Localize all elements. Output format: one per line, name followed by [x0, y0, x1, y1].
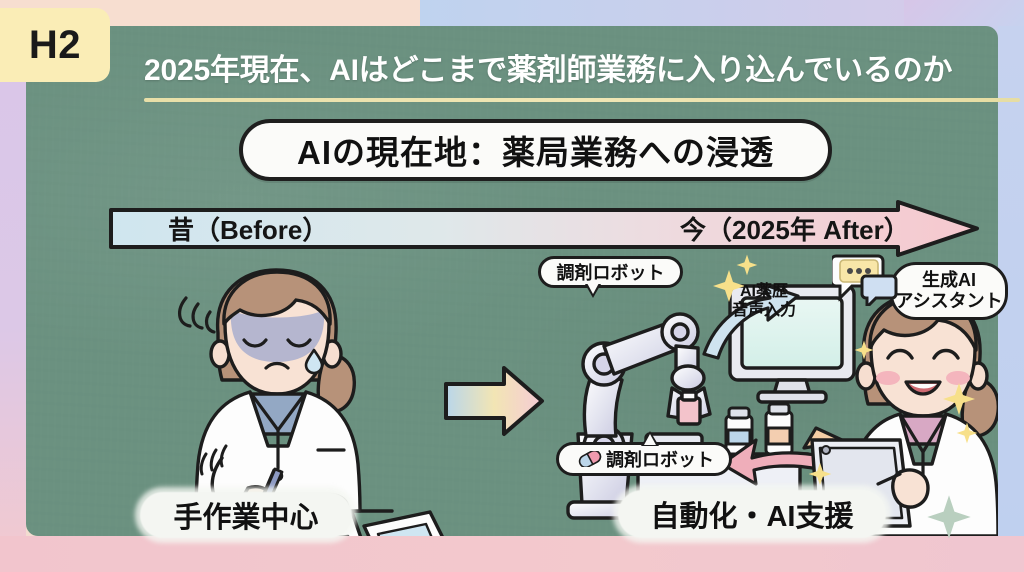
callout-dispensing-robot-bottom: 調剤ロボット [556, 442, 732, 476]
sparkle-icon [956, 422, 978, 444]
heading-level-badge: H2 [0, 8, 110, 82]
section-title-pill: AIの現在地：薬局業務への浸透 [239, 119, 832, 181]
timeline-arrow: 昔（Before） 今（2025年 After） [108, 200, 980, 257]
capsule-icon [578, 451, 602, 467]
callout-dispensing-robot-top: 調剤ロボット [538, 256, 683, 288]
caption-manual-work-text: 手作業中心 [173, 494, 318, 536]
timeline-before-text: 昔（Before） [168, 210, 328, 247]
caption-automation-ai: 自動化・AI支援 [618, 490, 886, 538]
chat-bubble-icon [832, 250, 898, 306]
ai-monitor-line1: AI薬歴 [740, 282, 788, 301]
callout-genai-line1: 生成AI [922, 271, 976, 290]
callout-dispensing-robot-bottom-text: 調剤ロボット [606, 446, 714, 472]
sparkle-icon [854, 340, 874, 360]
callout-tail [641, 431, 659, 446]
timeline-before-label: 昔（Before） [168, 200, 328, 257]
page-title: 2025年現在、AIはどこまで薬剤師業務に入り込んでいるのか [144, 40, 980, 94]
callout-dispensing-robot-top-text: 調剤ロボット [557, 259, 665, 285]
sparkle-icon [926, 494, 972, 540]
timeline-after-label: 今（2025年 After） [680, 200, 910, 257]
title-underline [144, 98, 1020, 102]
bg-left-strip [0, 26, 26, 572]
caption-manual-work: 手作業中心 [140, 492, 352, 538]
transition-arrow [446, 368, 542, 434]
bg-bottom-strip [0, 536, 1024, 572]
timeline-after-text: 今（2025年 After） [680, 210, 910, 247]
callout-generative-ai-assistant: 生成AI アシスタント [890, 262, 1008, 320]
callout-tail [585, 284, 601, 298]
caption-automation-ai-text: 自動化・AI支援 [650, 493, 853, 535]
sparkle-icon [736, 254, 758, 276]
ai-monitor-text: AI薬歴 音声入力 [718, 277, 810, 325]
section-title-text: AIの現在地：薬局業務への浸透 [297, 126, 774, 174]
heading-level-label: H2 [29, 23, 81, 68]
ai-monitor-line2: 音声入力 [732, 301, 796, 320]
sparkle-icon [942, 382, 976, 416]
page-title-text: 2025年現在、AIはどこまで薬剤師業務に入り込んでいるのか [144, 45, 952, 89]
sparkle-icon [808, 462, 832, 486]
callout-genai-line2: アシスタント [895, 292, 1002, 311]
